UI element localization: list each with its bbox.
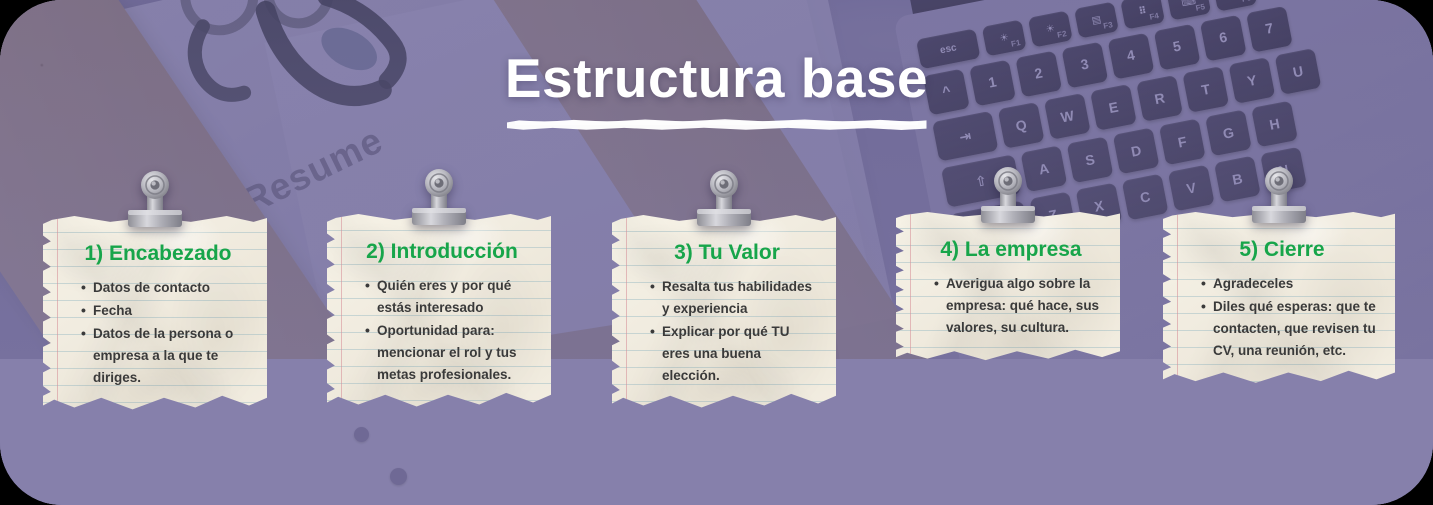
note-card-5[interactable]: 5) Cierre Agradeceles Diles qué esperas:… (1163, 212, 1395, 385)
binder-clip-icon (973, 166, 1043, 228)
list-item: Oportunidad para: mencionar el rol y tus… (365, 320, 535, 386)
note-card-1[interactable]: 1) Encabezado Datos de contacto Fecha Da… (43, 216, 267, 411)
brush-stroke-core (515, 121, 918, 125)
slide-canvas: Resume (0, 0, 1433, 505)
list-item: Datos de la persona o empresa a la que t… (81, 323, 251, 389)
note-paper: 3) Tu Valor Resalta tus habilidades y ex… (612, 215, 836, 409)
binder-clip-icon (120, 170, 190, 232)
card-title: 5) Cierre (1185, 238, 1379, 261)
card-title: 3) Tu Valor (634, 241, 820, 264)
card-title: 2) Introducción (349, 240, 535, 263)
card-bullet-list: Averigua algo sobre la empresa: qué hace… (918, 273, 1104, 339)
list-item: Resalta tus habilidades y experiencia (650, 276, 820, 320)
list-item: Averigua algo sobre la empresa: qué hace… (934, 273, 1104, 339)
note-card-4[interactable]: 4) La empresa Averigua algo sobre la emp… (896, 212, 1120, 362)
note-paper: 4) La empresa Averigua algo sobre la emp… (896, 212, 1120, 362)
card-bullet-list: Resalta tus habilidades y experiencia Ex… (634, 276, 820, 386)
page-title: Estructura base (0, 46, 1433, 110)
note-paper: 2) Introducción Quién eres y por qué est… (327, 214, 551, 408)
binder-clip-icon (1244, 166, 1314, 228)
card-bullet-list: Quién eres y por qué estás interesado Op… (349, 275, 535, 385)
card-title: 4) La empresa (918, 238, 1104, 261)
card-bullet-list: Datos de contacto Fecha Datos de la pers… (65, 277, 251, 388)
list-item: Explicar por qué TU eres una buena elecc… (650, 321, 820, 387)
card-title: 1) Encabezado (65, 242, 251, 265)
note-card-3[interactable]: 3) Tu Valor Resalta tus habilidades y ex… (612, 215, 836, 409)
card-bullet-list: Agradeceles Diles qué esperas: que te co… (1185, 273, 1379, 361)
list-item: Datos de contacto (81, 277, 251, 299)
brush-underline (507, 118, 927, 131)
note-paper: 1) Encabezado Datos de contacto Fecha Da… (43, 216, 267, 411)
list-item: Quién eres y por qué estás interesado (365, 275, 535, 319)
list-item: Diles qué esperas: que te contacten, que… (1201, 296, 1379, 362)
note-paper: 5) Cierre Agradeceles Diles qué esperas:… (1163, 212, 1395, 385)
binder-clip-icon (404, 168, 474, 230)
binder-clip-icon (689, 169, 759, 231)
list-item: Agradeceles (1201, 273, 1379, 295)
list-item: Fecha (81, 300, 251, 322)
note-card-2[interactable]: 2) Introducción Quién eres y por qué est… (327, 214, 551, 408)
title-block: Estructura base (0, 46, 1433, 131)
